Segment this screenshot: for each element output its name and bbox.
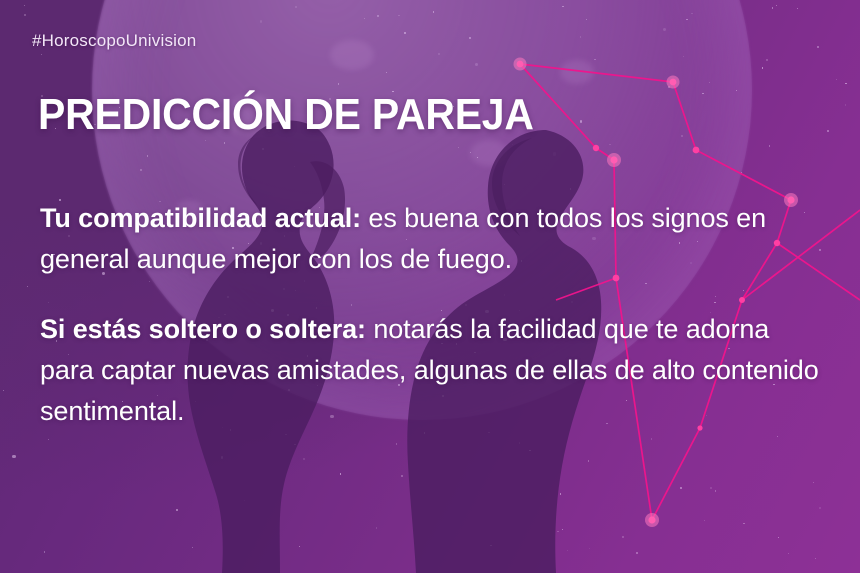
horoscope-card: #HoroscopoUnivision PREDICCIÓN DE PAREJA…	[0, 0, 860, 573]
prediction-body: Tu compatibilidad actual: es buena con t…	[40, 198, 830, 432]
paragraph-compatibilidad: Tu compatibilidad actual: es buena con t…	[40, 198, 830, 280]
paragraph-soltero: Si estás soltero o soltera: notarás la f…	[40, 309, 830, 432]
hashtag-label: #HoroscopoUnivision	[32, 31, 196, 51]
page-title: PREDICCIÓN DE PAREJA	[38, 91, 534, 139]
paragraph-lead: Si estás soltero o soltera:	[40, 314, 366, 344]
paragraph-lead: Tu compatibilidad actual:	[40, 203, 361, 233]
